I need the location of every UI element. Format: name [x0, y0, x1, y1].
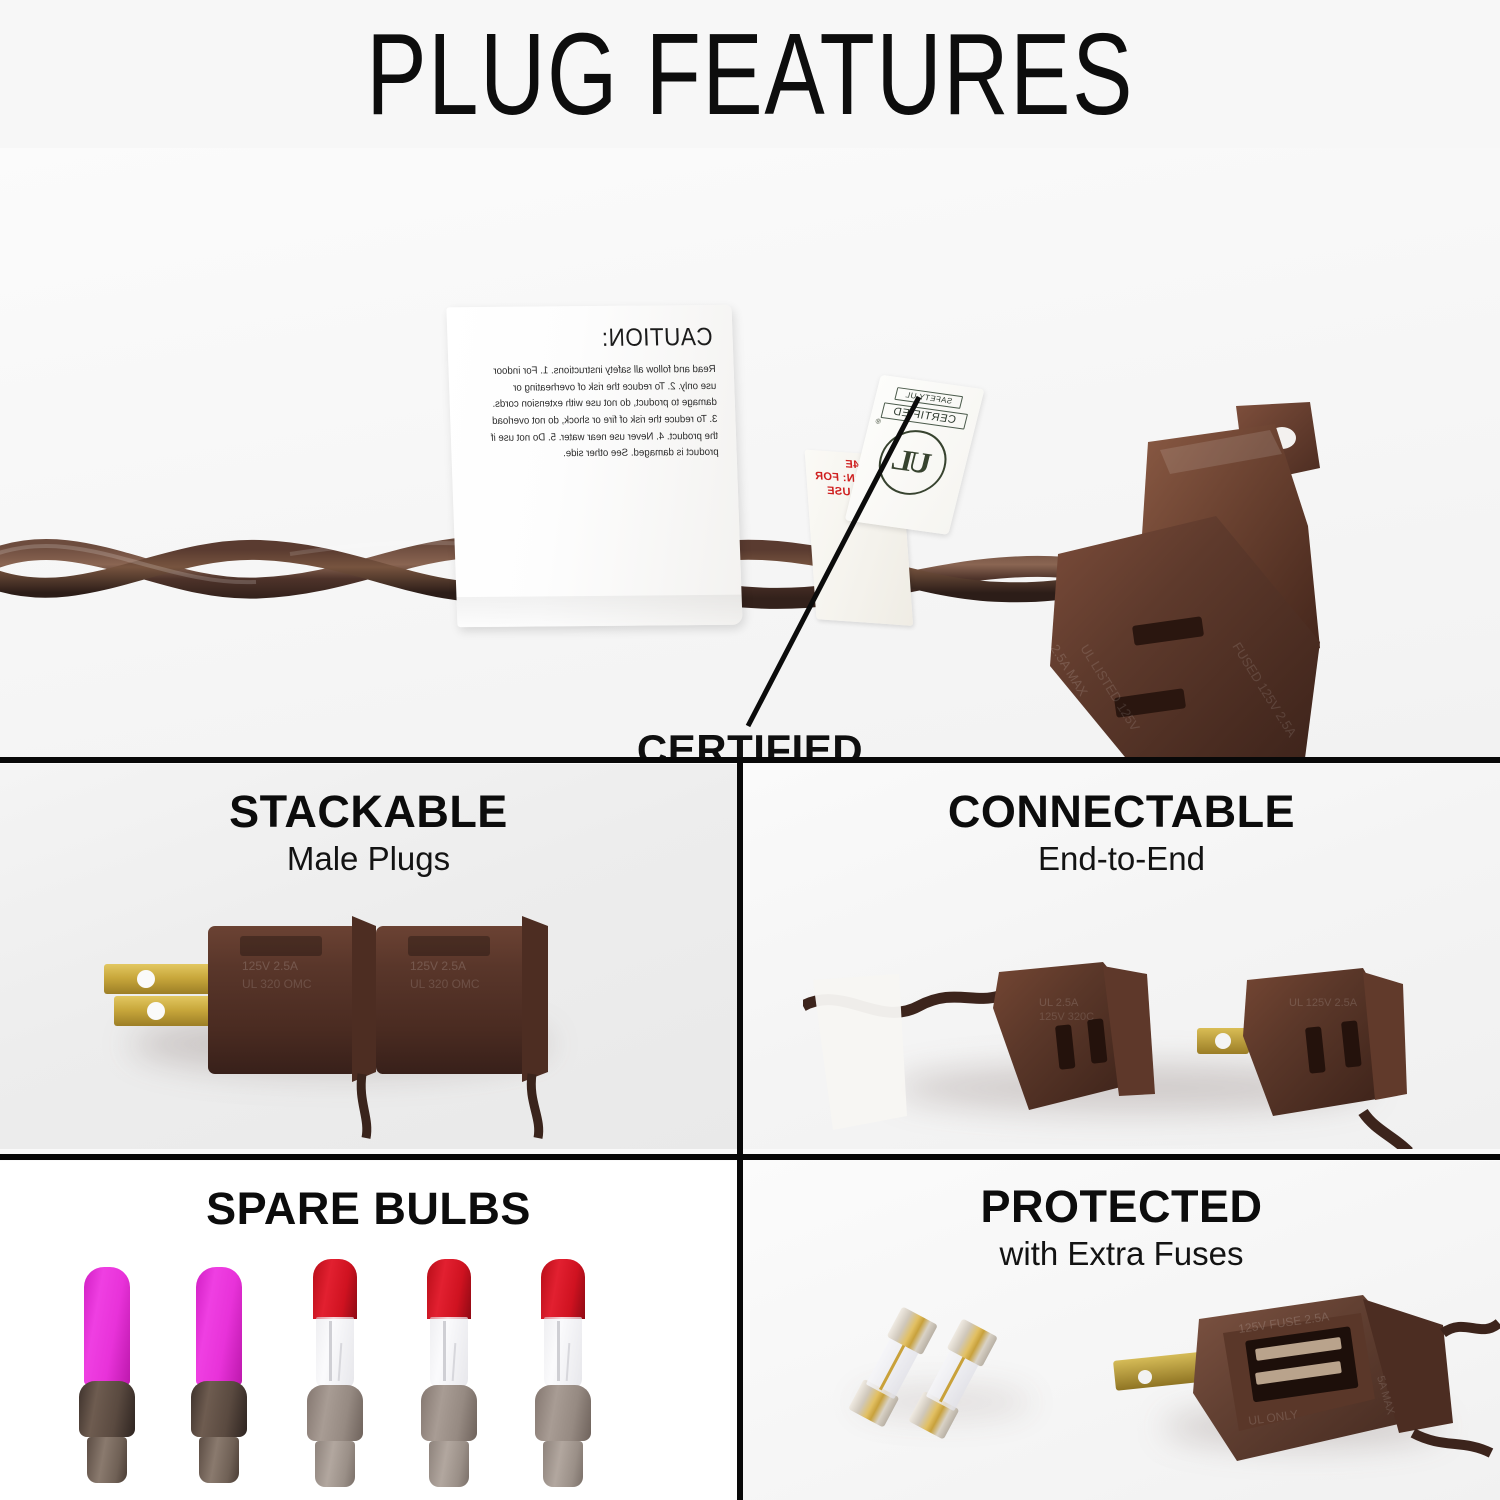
callout-title: CERTIFIED: [0, 726, 1500, 758]
spare-bulb-pink-2: [176, 1267, 262, 1483]
spare-bulb-red-3: [520, 1259, 606, 1487]
svg-text:UL 320 OMC: UL 320 OMC: [410, 977, 480, 991]
bulb-filament: [557, 1321, 560, 1381]
header-bar: PLUG FEATURES: [0, 0, 1500, 148]
bulb-filament-secondary: [566, 1343, 571, 1381]
bulb-glass: [430, 1317, 468, 1389]
spare-bulb-pink-1: [64, 1267, 150, 1483]
bulb-glass: [316, 1317, 354, 1389]
bulb-glass: [544, 1317, 582, 1389]
bulb-foot: [87, 1437, 127, 1483]
tag-fold-shadow: [456, 595, 742, 627]
svg-text:125V 2.5A: 125V 2.5A: [242, 959, 298, 973]
bulb-cap: [313, 1259, 357, 1319]
caution-tag: CAUTION: Read and follow all safety inst…: [446, 305, 742, 627]
bulb-base: [421, 1385, 477, 1441]
caution-tag-heading: CAUTION:: [488, 323, 713, 354]
fuse-access-plug-image: 125V FUSE 2.5A UL ONLY 5A MAX: [1113, 1273, 1500, 1488]
hero-panel: CAUTION: Read and follow all safety inst…: [0, 148, 1500, 758]
certified-callout: CERTIFIED for safety: [0, 726, 1500, 758]
quadrant-stackable-subtitle: Male Plugs: [0, 841, 737, 877]
bulb-base: [535, 1385, 591, 1441]
bulb-foot: [429, 1441, 469, 1487]
svg-text:125V 320C: 125V 320C: [1039, 1011, 1094, 1023]
bulb-base: [79, 1381, 135, 1437]
bulb-filament-secondary: [338, 1343, 343, 1381]
bulb-filament: [329, 1321, 332, 1381]
bulb-cap: [541, 1259, 585, 1319]
bulb-filament-secondary: [452, 1343, 457, 1381]
registered-trademark-icon: ®: [875, 418, 882, 426]
bulb-foot: [315, 1441, 355, 1487]
hero-plug-image: 2.5A MAX UL LISTED 125V FUSED 125V 2.5A: [1020, 398, 1360, 758]
bulb-cap: [84, 1267, 130, 1385]
connectable-plugs-image: UL 2.5A 125V 320C UL 125V 2.5A: [803, 944, 1463, 1149]
spare-bulb-red-2: [406, 1259, 492, 1487]
quadrant-stackable: STACKABLE Male Plugs: [0, 764, 737, 1149]
quadrant-protected-subtitle: with Extra Fuses: [743, 1236, 1500, 1272]
svg-text:125V 2.5A: 125V 2.5A: [410, 959, 466, 973]
stackable-plugs-image: 125V 2.5A UL 320 OMC 125V 2.5A UL 320 OM…: [90, 892, 610, 1147]
svg-text:UL 2.5A: UL 2.5A: [1039, 997, 1079, 1009]
caution-tag-body: Read and follow all safety instructions.…: [480, 362, 719, 464]
quadrant-protected: PROTECTED with Extra Fuses: [743, 1161, 1500, 1500]
quadrant-spare-bulbs-title: SPARE BULBS: [0, 1185, 737, 1232]
infographic-page: PLUG FEATURES: [0, 0, 1500, 1500]
quadrant-stackable-title: STACKABLE: [0, 788, 737, 835]
divider-horizontal-top: [0, 757, 1500, 763]
bulb-cap: [427, 1259, 471, 1319]
divider-horizontal-bottom: [0, 1154, 1500, 1160]
page-title: PLUG FEATURES: [366, 16, 1134, 132]
bulb-filament: [443, 1321, 446, 1381]
svg-text:UL 125V 2.5A: UL 125V 2.5A: [1289, 997, 1358, 1009]
svg-text:UL 320 OMC: UL 320 OMC: [242, 977, 312, 991]
ul-logo-icon: UL: [872, 426, 954, 499]
quadrant-spare-bulbs: SPARE BULBS: [0, 1161, 737, 1500]
ul-tag-face: SAFETY UL CERTIFIED UL ®: [845, 375, 985, 535]
quadrant-connectable-title: CONNECTABLE: [743, 788, 1500, 835]
spare-bulb-red-1: [292, 1259, 378, 1487]
bulb-foot: [199, 1437, 239, 1483]
quadrant-protected-title: PROTECTED: [743, 1183, 1500, 1230]
bulb-cap: [196, 1267, 242, 1385]
bulb-foot: [543, 1441, 583, 1487]
bulb-base: [191, 1381, 247, 1437]
quadrant-connectable-subtitle: End-to-End: [743, 841, 1500, 877]
quadrant-connectable: CONNECTABLE End-to-End: [743, 764, 1500, 1149]
bulb-base: [307, 1385, 363, 1441]
